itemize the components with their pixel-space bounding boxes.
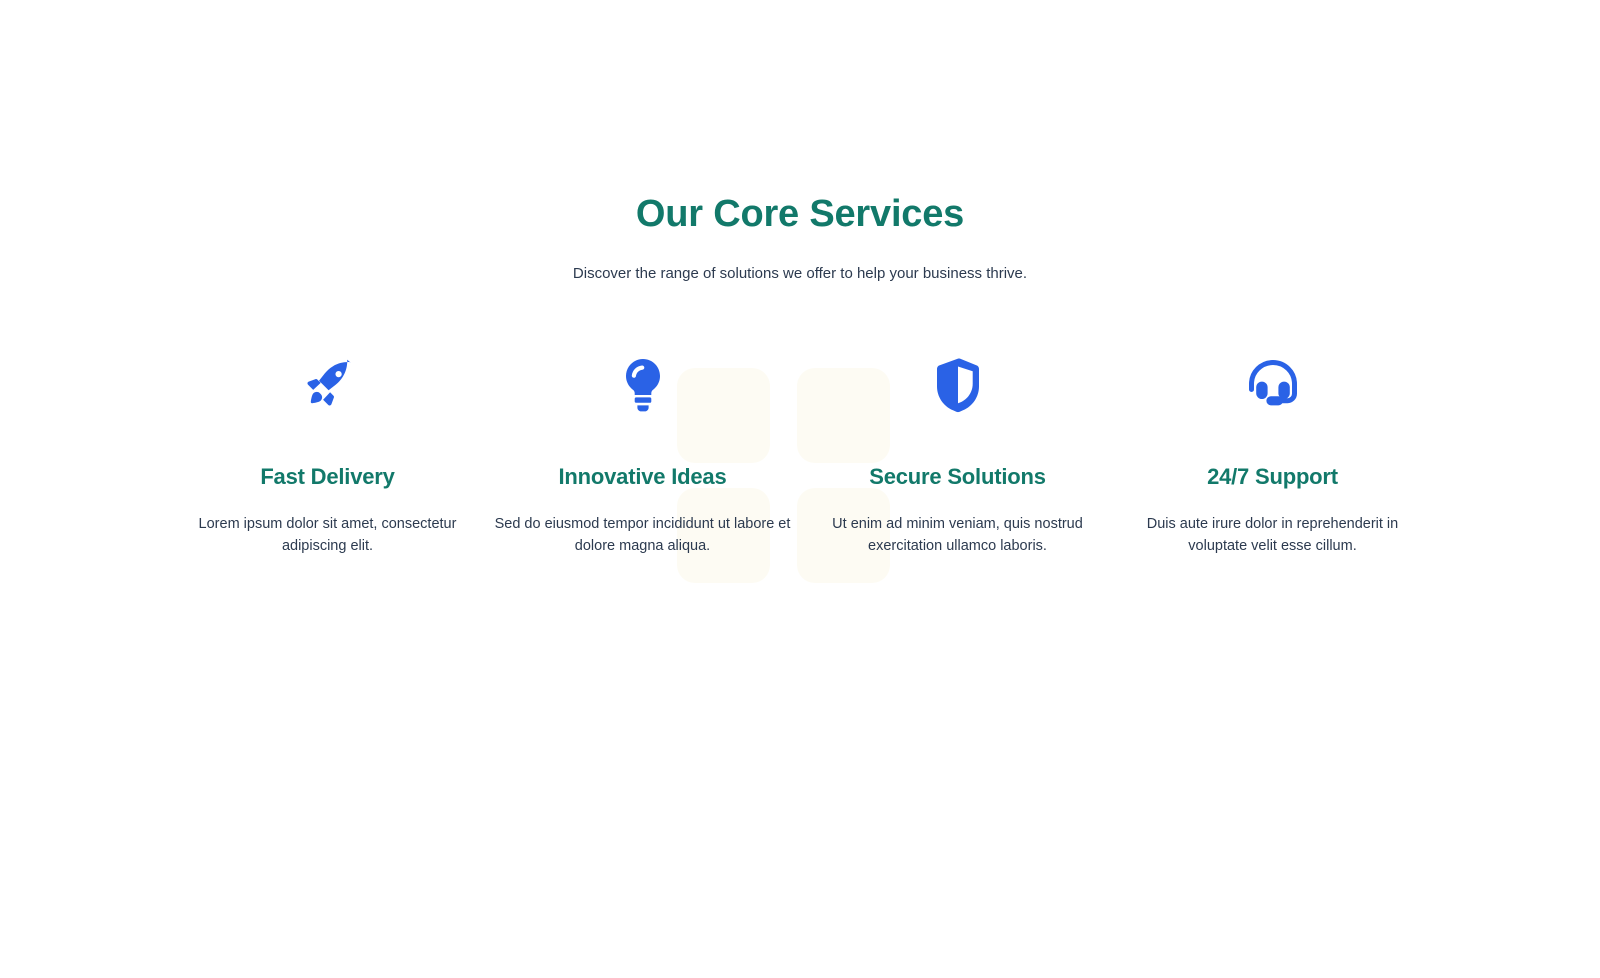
shield-icon (808, 355, 1107, 415)
lightbulb-icon (493, 355, 792, 415)
service-card-secure-solutions[interactable]: Secure Solutions Ut enim ad minim veniam… (800, 355, 1115, 557)
page-title: Our Core Services (0, 190, 1600, 238)
service-title: Fast Delivery (178, 463, 477, 491)
service-title: 24/7 Support (1123, 463, 1422, 491)
services-page: Our Core Services Discover the range of … (0, 0, 1600, 978)
service-description: Ut enim ad minim veniam, quis nostrud ex… (808, 491, 1107, 557)
service-card-support[interactable]: 24/7 Support Duis aute irure dolor in re… (1115, 355, 1430, 557)
headset-icon (1123, 355, 1422, 415)
page-subtitle: Discover the range of solutions we offer… (0, 238, 1600, 285)
service-card-fast-delivery[interactable]: Fast Delivery Lorem ipsum dolor sit amet… (170, 355, 485, 557)
service-description: Sed do eiusmod tempor incididunt ut labo… (493, 491, 792, 557)
service-description: Lorem ipsum dolor sit amet, consectetur … (178, 491, 477, 557)
service-card-innovative-ideas[interactable]: Innovative Ideas Sed do eiusmod tempor i… (485, 355, 800, 557)
section-header: Our Core Services Discover the range of … (0, 0, 1600, 285)
service-description: Duis aute irure dolor in reprehenderit i… (1123, 491, 1422, 557)
service-title: Secure Solutions (808, 463, 1107, 491)
rocket-icon (178, 355, 477, 415)
services-row: Fast Delivery Lorem ipsum dolor sit amet… (0, 355, 1600, 557)
service-title: Innovative Ideas (493, 463, 792, 491)
